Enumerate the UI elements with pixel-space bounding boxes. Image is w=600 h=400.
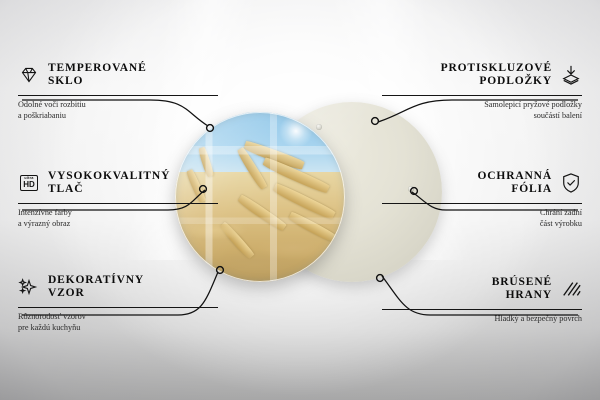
- feature-header: PROTISKLUZOVÉPODLOŽKY: [382, 58, 582, 92]
- divider: [18, 95, 218, 96]
- feature-polished-edges[interactable]: BRÚSENÉHRANY Hladký a bezpečný povrch: [382, 272, 582, 325]
- feature-header: OCHRANNÁFÓLIA: [382, 166, 582, 200]
- infographic-canvas: TEMPEROVANÉSKLO Odolné voči rozbitiua po…: [0, 0, 600, 400]
- feature-header: ultra HD VYSOKOKVALITNÝTLAČ: [18, 166, 218, 200]
- shield-check-icon: [560, 171, 582, 195]
- feature-description: Chrání zadníčást výrobku: [382, 208, 582, 229]
- feature-title: TEMPEROVANÉSKLO: [48, 62, 147, 89]
- feature-title: VYSOKOKVALITNÝTLAČ: [48, 170, 170, 197]
- feature-description: Hladký a bezpečný povrch: [382, 314, 582, 325]
- polished-edge-icon: [560, 277, 582, 301]
- feature-high-quality-print[interactable]: ultra HD VYSOKOKVALITNÝTLAČ Intenzívne f…: [18, 166, 218, 229]
- feature-header: DEKORATÍVNYVZOR: [18, 270, 218, 304]
- ultra-hd-icon: ultra HD: [18, 171, 40, 195]
- feature-title: BRÚSENÉHRANY: [492, 276, 552, 303]
- divider: [18, 203, 218, 204]
- diamond-icon: [18, 63, 40, 87]
- feature-protective-film[interactable]: OCHRANNÁFÓLIA Chrání zadníčást výrobku: [382, 166, 582, 229]
- feature-description: Intenzívne farbya výrazný obraz: [18, 208, 218, 229]
- divider: [382, 309, 582, 310]
- feature-tempered-glass[interactable]: TEMPEROVANÉSKLO Odolné voči rozbitiua po…: [18, 58, 218, 121]
- feature-antislip-pads[interactable]: PROTISKLUZOVÉPODLOŽKY Samolepicí pryžové…: [382, 58, 582, 121]
- feature-title: PROTISKLUZOVÉPODLOŽKY: [441, 62, 552, 89]
- feature-decorative-pattern[interactable]: DEKORATÍVNYVZOR Rôznorodosť vzorovpre ka…: [18, 270, 218, 333]
- feature-description: Samolepicí pryžové podložkysoučástí bale…: [382, 100, 582, 121]
- feature-header: BRÚSENÉHRANY: [382, 272, 582, 306]
- divider: [18, 307, 218, 308]
- press-pad-icon: [560, 63, 582, 87]
- feature-header: TEMPEROVANÉSKLO: [18, 58, 218, 92]
- hd-label: HD: [23, 181, 35, 189]
- feature-title: DEKORATÍVNYVZOR: [48, 274, 144, 301]
- feature-description: Rôznorodosť vzorovpre každú kuchyňu: [18, 312, 218, 333]
- feature-title: OCHRANNÁFÓLIA: [477, 170, 552, 197]
- sparkle-icon: [18, 275, 40, 299]
- divider: [382, 203, 582, 204]
- feature-description: Odolné voči rozbitiua poškriabaniu: [18, 100, 218, 121]
- divider: [382, 95, 582, 96]
